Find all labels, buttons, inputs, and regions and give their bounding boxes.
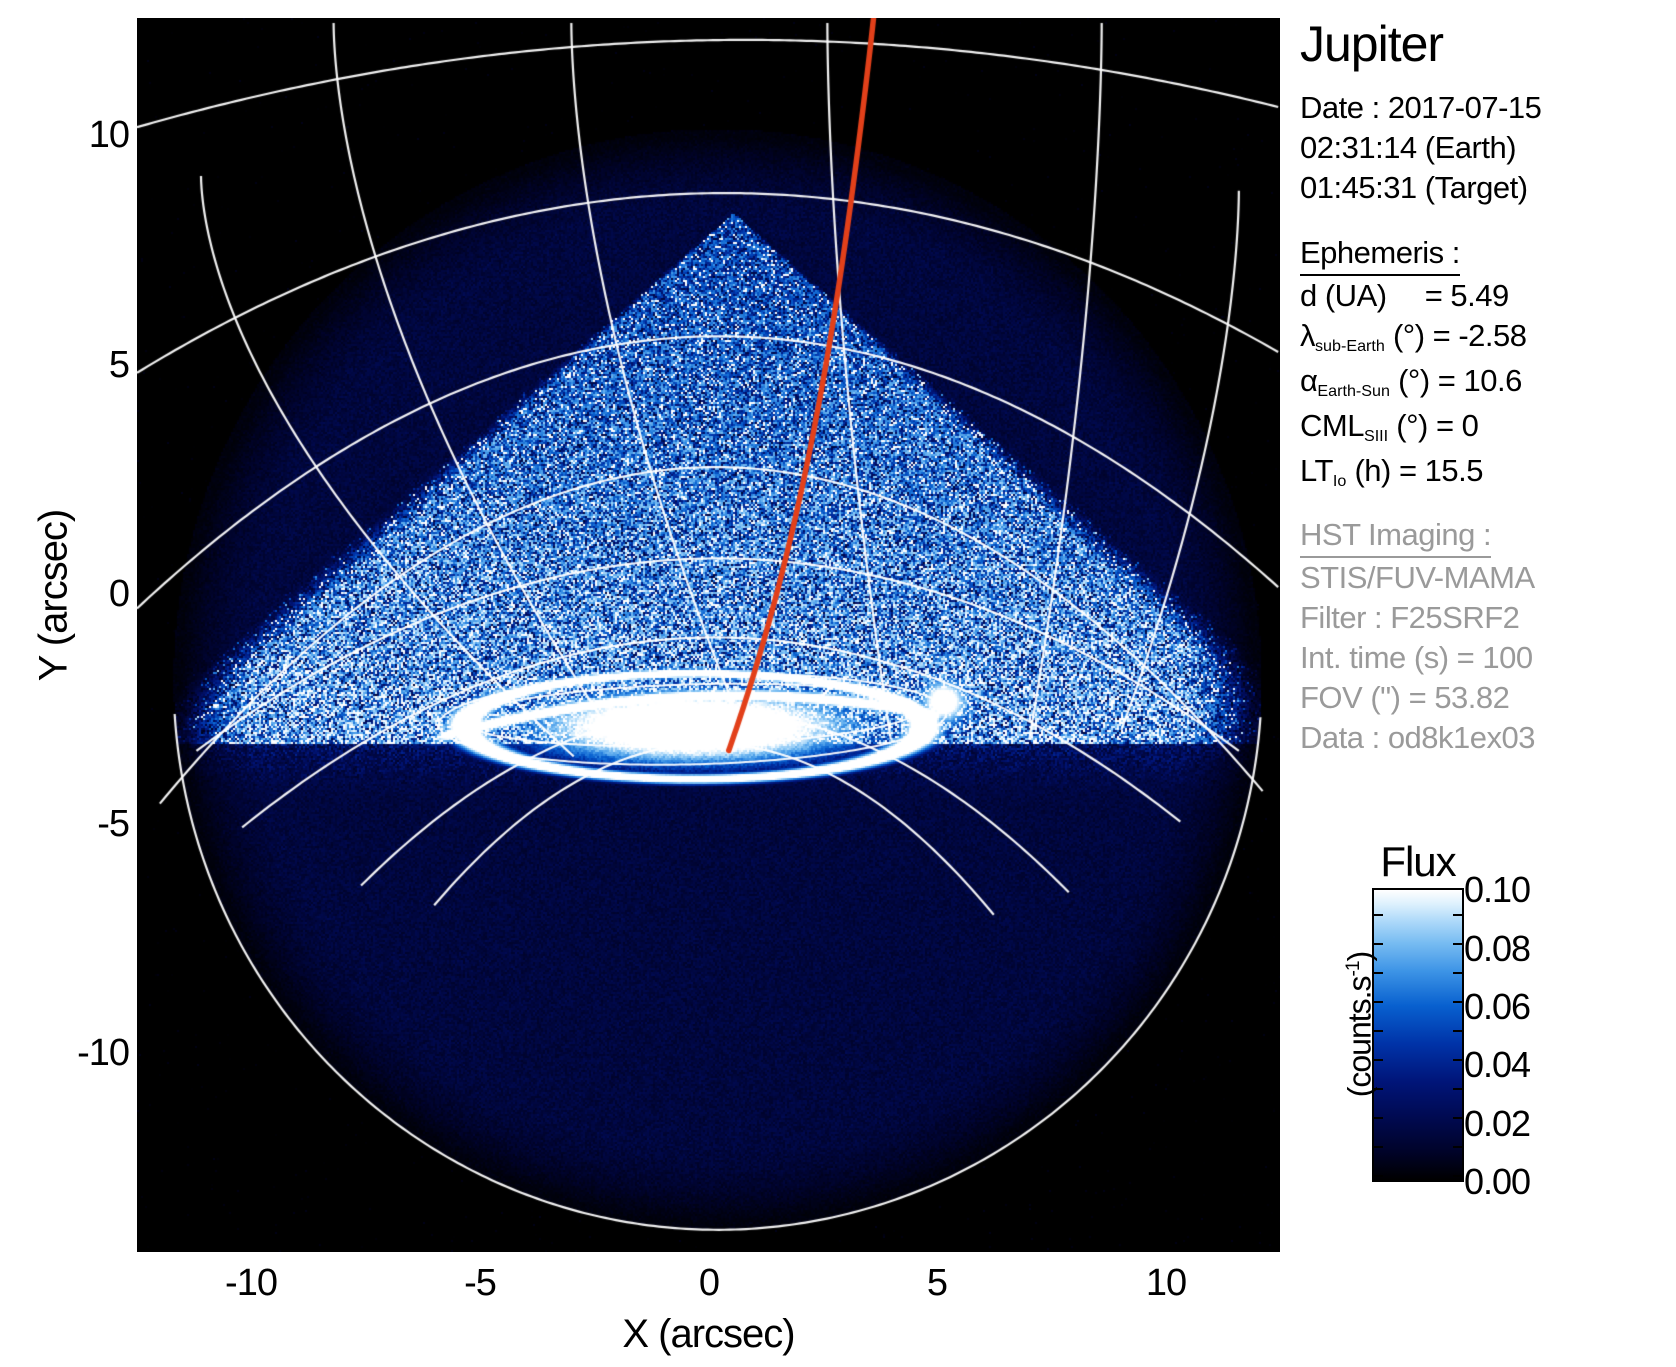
ephemeris-unit-lambda: (°)	[1393, 318, 1425, 353]
hst-dataset-id: Data : od8k1ex03	[1300, 718, 1676, 758]
ephemeris-label-d: d (UA)	[1300, 278, 1387, 313]
observation-date: Date : 2017-07-15	[1300, 88, 1676, 128]
ephemeris-heading: Ephemeris :	[1300, 234, 1460, 276]
hst-imaging-heading: HST Imaging :	[1300, 516, 1491, 558]
x-tick-m5: -5	[464, 1262, 496, 1305]
page-title: Jupiter	[1300, 14, 1676, 74]
aurora-image-plot	[137, 18, 1280, 1252]
ephemeris-label-lambda: λ	[1300, 318, 1315, 353]
ephemeris-value-lambda: = -2.58	[1433, 318, 1527, 353]
ephemeris-unit-alpha: (°)	[1398, 363, 1430, 398]
ephemeris-value-cml: = 0	[1436, 408, 1478, 443]
y-tick-10: 10	[0, 114, 129, 157]
ephemeris-value-alpha: = 10.6	[1438, 363, 1522, 398]
hst-filter: Filter : F25SRF2	[1300, 598, 1676, 638]
colorbar-unit-text: (counts.s	[1342, 976, 1378, 1097]
ephemeris-row-phase-angle: αEarth-Sun (°) = 10.6	[1300, 361, 1676, 406]
ephemeris-sub-earth-sun: Earth-Sun	[1317, 382, 1390, 400]
ephemeris-unit-lt: (h)	[1354, 453, 1390, 488]
x-tick-m10: -10	[225, 1262, 277, 1305]
x-tick-5: 5	[927, 1262, 947, 1305]
colorbar-gradient	[1372, 888, 1464, 1182]
colorbar-unit-paren: )	[1342, 952, 1378, 962]
x-tick-10: 10	[1146, 1262, 1186, 1305]
ephemeris-label-cml: CML	[1300, 408, 1364, 443]
ephemeris-unit-cml: (°)	[1396, 408, 1428, 443]
hst-instrument: STIS/FUV-MAMA	[1300, 558, 1676, 598]
ephemeris-row-distance: d (UA) = 5.49	[1300, 276, 1676, 316]
jupiter-fuv-image-canvas	[137, 18, 1280, 1252]
ephemeris-row-io-local-time: LTIo (h) = 15.5	[1300, 451, 1676, 496]
colorbar-unit-exponent: -1	[1343, 961, 1364, 976]
hst-int-time: Int. time (s) = 100	[1300, 638, 1676, 678]
colorbar-unit-label: (counts.s-1)	[1342, 875, 1379, 1175]
colorbar-tick-0.10: 0.10	[1464, 869, 1530, 911]
ephemeris-row-sub-earth-latitude: λsub-Earth (°) = -2.58	[1300, 316, 1676, 361]
x-tick-0: 0	[699, 1262, 719, 1305]
ephemeris-label-lt: LT	[1300, 453, 1333, 488]
x-axis-title: X (arcsec)	[137, 1312, 1280, 1357]
ephemeris-value-d: = 5.49	[1425, 278, 1509, 313]
observation-time-target: 01:45:31 (Target)	[1300, 168, 1676, 208]
ephemeris-block: Ephemeris : d (UA) = 5.49 λsub-Earth (°)…	[1300, 234, 1676, 496]
ephemeris-value-lt: = 15.5	[1399, 453, 1483, 488]
colorbar-tick-0.02: 0.02	[1464, 1103, 1530, 1145]
colorbar-tick-0.06: 0.06	[1464, 986, 1530, 1028]
ephemeris-sub-siii: SIII	[1364, 427, 1388, 445]
ephemeris-row-cml: CMLSIII (°) = 0	[1300, 406, 1676, 451]
colorbar-tick-0.00: 0.00	[1464, 1161, 1530, 1203]
y-tick-m5: -5	[0, 803, 129, 846]
observation-time-earth: 02:31:14 (Earth)	[1300, 128, 1676, 168]
ephemeris-label-alpha: α	[1300, 363, 1317, 398]
colorbar-tick-0.08: 0.08	[1464, 928, 1530, 970]
hst-imaging-block: HST Imaging : STIS/FUV-MAMA Filter : F25…	[1300, 516, 1676, 758]
hst-fov: FOV (") = 53.82	[1300, 678, 1676, 718]
y-axis-title: Y (arcsec)	[32, 446, 77, 746]
flux-colorbar-group: Flux 0.10 0.08 0.06 0.04 0.02 0.00 (coun…	[1330, 838, 1676, 1198]
colorbar-tick-0.04: 0.04	[1464, 1044, 1530, 1086]
ephemeris-sub-sub-earth: sub-Earth	[1315, 337, 1385, 355]
ephemeris-sub-io: Io	[1333, 472, 1346, 490]
y-tick-m10: -10	[0, 1032, 129, 1075]
y-tick-5: 5	[0, 344, 129, 387]
observation-info-panel: Jupiter Date : 2017-07-15 02:31:14 (Eart…	[1300, 14, 1676, 758]
